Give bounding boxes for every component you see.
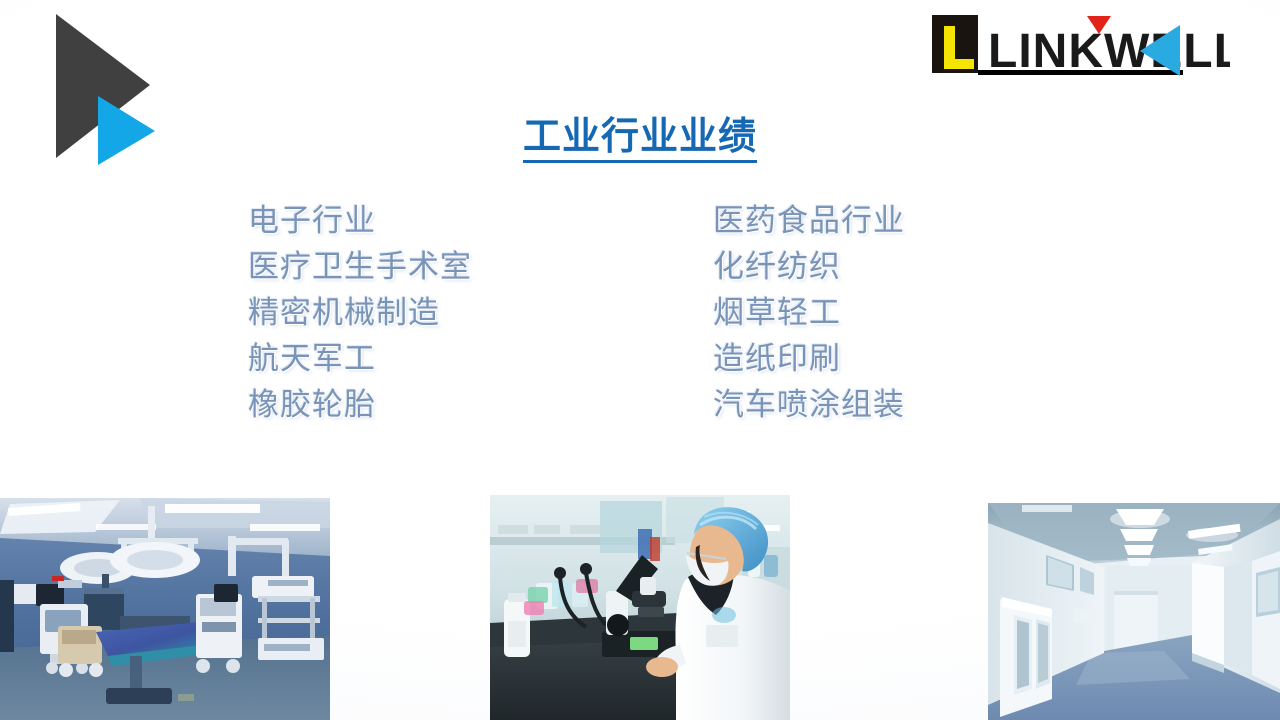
list-item: 造纸印刷 [713,336,905,382]
list-item: 医药食品行业 [713,198,905,244]
list-item: 电子行业 [248,198,472,244]
list-item: 橡胶轮胎 [248,382,472,428]
photo-operating-room [0,498,330,720]
list-item: 化纤纺织 [713,244,905,290]
linkwell-logo: LINKWELL [930,10,1230,88]
page-title-text: 工业行业业绩 [523,116,757,163]
list-item: 医疗卫生手术室 [248,244,472,290]
industry-column-left: 电子行业 医疗卫生手术室 精密机械制造 航天军工 橡胶轮胎 [248,198,472,428]
page-title: 工业行业业绩 [0,116,1280,163]
slide-canvas: LINKWELL 工业行业业绩 电子行业 医疗卫生手术室 精密机械制造 航天军工… [0,0,1280,720]
list-item: 航天军工 [248,336,472,382]
list-item: 烟草轻工 [713,290,905,336]
photo-laboratory-microscope [490,495,790,720]
logo-underline [978,70,1183,75]
photo-cleanroom-corridor [988,503,1280,720]
list-item: 精密机械制造 [248,290,472,336]
industry-column-right: 医药食品行业 化纤纺织 烟草轻工 造纸印刷 汽车喷涂组装 [713,198,905,428]
industry-list: 电子行业 医疗卫生手术室 精密机械制造 航天军工 橡胶轮胎 医药食品行业 化纤纺… [0,198,1280,438]
corner-arrow-decoration [0,0,220,200]
list-item: 汽车喷涂组装 [713,382,905,428]
